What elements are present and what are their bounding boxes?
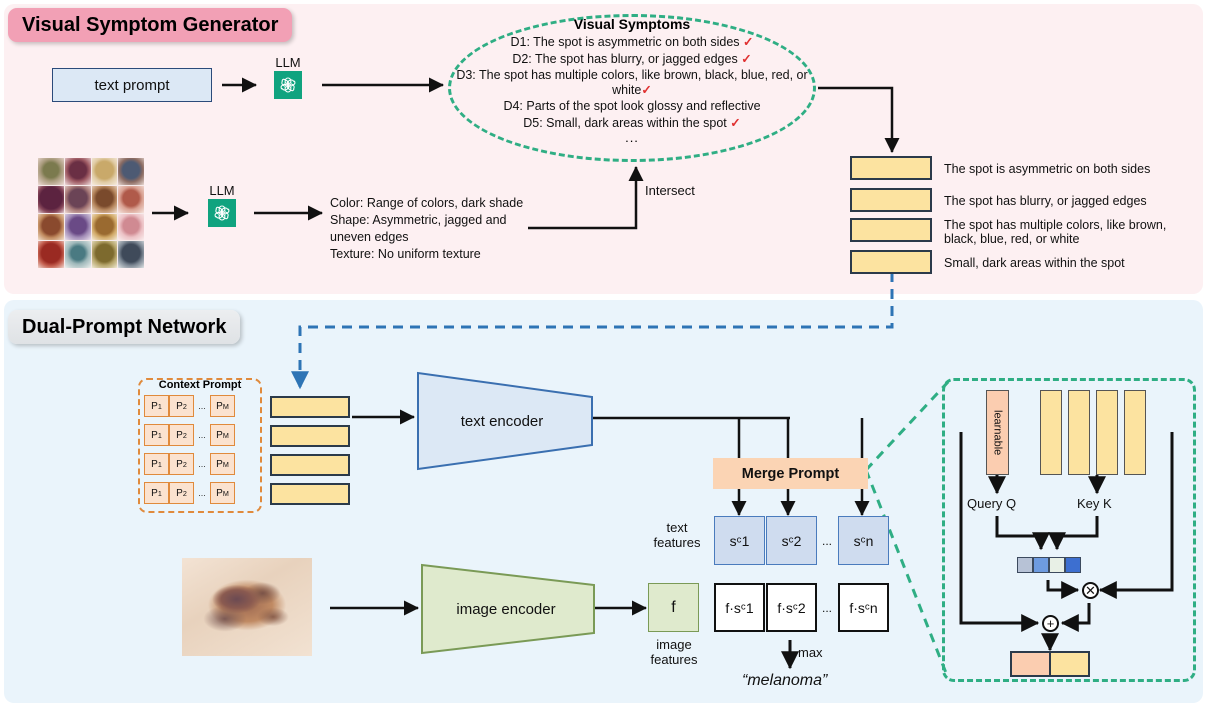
attention-weight-cell-1 [1017,557,1033,573]
text-features-label: text features [654,520,701,550]
skin-lesion-image-grid [38,158,144,268]
symptom-item-d4: D4: Parts of the spot look glossy and re… [452,99,812,113]
image-features-label: image features [651,637,698,667]
symptom-text: D1: The spot is asymmetric on both sides [510,35,739,49]
logit-label: f·sᶜ1 [725,600,753,616]
prompt-token-p2: P2 [169,453,194,475]
prompt-token-ellipsis: ... [194,430,210,440]
attention-weight-cell-2 [1033,557,1049,573]
attention-weight-cell-3 [1049,557,1065,573]
prompt-token-ellipsis: ... [194,401,210,411]
dpn-prompt-box-4[interactable] [270,483,350,505]
dpn-prompt-box-1[interactable] [270,396,350,418]
prompt-bar-2 [1068,390,1090,475]
llm-label: LLM [266,56,310,69]
prompt-token-ellipsis: ... [194,459,210,469]
prompt-token-pm: PM [210,453,235,475]
check-icon: ✓ [730,116,740,130]
logit-box-1: f·sᶜ1 [714,583,765,632]
symptom-item-d3: D3: The spot has multiple colors, like b… [452,68,812,97]
text-feature-box-1: sᶜ1 [714,516,765,565]
prompt-token-pm: PM [210,395,235,417]
context-prompt-row: P1 P2 ... PM [144,453,235,475]
symptom-text: D4: Parts of the spot look glossy and re… [503,99,760,113]
logit-label: f·sᶜ2 [777,600,805,616]
symptom-text: D3: The spot has multiple colors, like b… [456,68,807,97]
selected-prompt-label-1: The spot is asymmetric on both sides [944,162,1199,176]
selected-prompt-label-4: Small, dark areas within the spot [944,256,1199,270]
text-encoder-label: text encoder [416,371,588,471]
llm-attribute-summary: Color: Range of colors, dark shade Shape… [330,195,530,263]
add-operator-icon: + [1042,615,1059,632]
image-encoder-label: image encoder [420,563,592,655]
text-feature-label: sᶜ1 [730,533,750,549]
symptom-item-d5: D5: Small, dark areas within the spot ✓ [452,115,812,130]
selected-prompt-box-1[interactable] [850,156,932,180]
key-label: Key K [1077,496,1112,511]
image-feature-box: f [648,583,699,632]
check-icon: ✓ [743,35,753,49]
prompt-bar-3 [1096,390,1118,475]
symptom-text: D2: The spot has blurry, or jagged edges [512,52,737,66]
prompt-token-p2: P2 [169,424,194,446]
check-icon: ✓ [741,52,751,66]
prompt-token-p1: P1 [144,453,169,475]
text-feature-label: sᶜ2 [782,533,802,549]
prompt-bar-1 [1040,390,1062,475]
prompt-token-p1: P1 [144,395,169,417]
symptom-text: D5: Small, dark areas within the spot [523,116,727,130]
visual-symptoms-list: Visual Symptoms D1: The spot is asymmetr… [452,16,812,145]
selected-prompt-label-3: The spot has multiple colors, like brown… [944,218,1199,247]
text-feature-label: sᶜn [854,533,874,549]
intersect-label: Intersect [645,183,695,198]
prompt-token-p2: P2 [169,482,194,504]
text-feature-ellipsis: ... [822,534,832,548]
attention-output-cell-prompt [1051,651,1090,677]
logit-ellipsis: ... [822,601,832,615]
visual-symptoms-title: Visual Symptoms [452,16,812,32]
image-features-caption: image features [640,638,708,668]
context-prompt-row: P1 P2 ... PM [144,395,235,417]
prompt-bar-4 [1124,390,1146,475]
selected-prompt-box-2[interactable] [850,188,932,212]
selected-prompt-box-4[interactable] [850,250,932,274]
prompt-token-p2: P2 [169,395,194,417]
lesion-input-image [182,558,312,656]
llm-top-group: LLM [266,56,310,100]
selected-prompt-box-3[interactable] [850,218,932,242]
openai-icon [274,71,302,99]
figure-root: Visual Symptom Generator text prompt LLM [0,0,1207,707]
attention-output-row [1010,651,1090,677]
dpn-prompt-box-2[interactable] [270,425,350,447]
context-prompt-row: P1 P2 ... PM [144,482,235,504]
symptom-item-d1: D1: The spot is asymmetric on both sides… [452,34,812,49]
max-label: max [798,645,823,660]
prompt-token-p1: P1 [144,482,169,504]
learnable-token-box: learnable [986,390,1009,475]
check-icon: ✓ [641,83,651,97]
prompt-token-pm: PM [210,424,235,446]
multiply-operator-icon: ✕ [1082,582,1099,599]
text-feature-box-2: sᶜ2 [766,516,817,565]
section-title-visual-symptom-generator: Visual Symptom Generator [8,8,292,42]
dpn-prompt-box-3[interactable] [270,454,350,476]
attention-weight-cell-4 [1065,557,1081,573]
merge-prompt-box[interactable]: Merge Prompt [713,458,868,489]
text-feature-box-n: sᶜn [838,516,889,565]
attention-weights-row [1017,557,1081,573]
text-prompt-box[interactable]: text prompt [52,68,212,102]
section-title-dual-prompt-network: Dual-Prompt Network [8,310,240,344]
prediction-label: “melanoma” [742,672,827,690]
llm-bottom-group: LLM [200,184,244,228]
openai-icon [208,199,236,227]
context-prompt-row: P1 P2 ... PM [144,424,235,446]
context-prompt-title: Context Prompt [138,379,262,392]
selected-prompt-label-2: The spot has blurry, or jagged edges [944,194,1199,208]
symptom-item-d2: D2: The spot has blurry, or jagged edges… [452,51,812,66]
logit-box-n: f·sᶜn [838,583,889,632]
attention-output-cell-learnable [1010,651,1051,677]
logit-box-2: f·sᶜ2 [766,583,817,632]
llm-label: LLM [200,184,244,197]
prompt-token-pm: PM [210,482,235,504]
logit-label: f·sᶜn [849,600,877,616]
query-label: Query Q [967,496,1016,511]
symptom-ellipsis: ... [452,130,812,145]
text-features-caption: text features [646,521,708,551]
prompt-token-p1: P1 [144,424,169,446]
prompt-token-ellipsis: ... [194,488,210,498]
